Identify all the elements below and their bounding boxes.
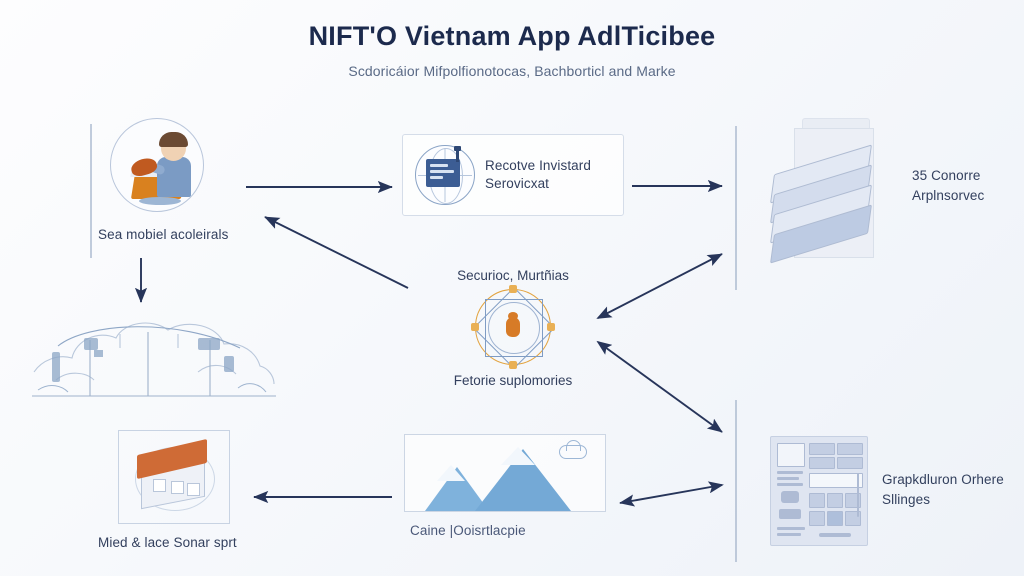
node-recotve-invistard-serovicxat[interactable]: Recotve Invistard Serovicxat: [402, 134, 624, 216]
node-label: Grapkdluron Orhere Sllinges: [882, 470, 1014, 509]
hub-label-bottom: Fetorie suplomories: [398, 373, 628, 388]
node-caine-ooisrtlacpie[interactable]: Caine |Ooisrtlacpie: [404, 434, 614, 540]
person-cooking-icon: [110, 118, 204, 212]
stacked-layers-icon: [760, 118, 900, 268]
mountains-icon: [404, 434, 606, 512]
dashboard-panel-icon: [770, 436, 868, 546]
globe-server-icon: [415, 145, 475, 205]
node-grapkdluron-orhere-sllinges[interactable]: Grapkdluron Orhere Sllinges: [770, 436, 1020, 546]
diagram-canvas: NIFT'O Vietnam App AdlTicibee Scdoricáio…: [0, 0, 1024, 576]
diagram-header: NIFT'O Vietnam App AdlTicibee Scdoricáio…: [0, 22, 1024, 79]
node-label: Caine |Ooisrtlacpie: [410, 522, 614, 540]
node-card: Recotve Invistard Serovicxat: [402, 134, 624, 216]
house-building-icon: [118, 430, 230, 524]
landscape-sketch-icon: [28, 300, 280, 408]
arrow-hub-to-cook: [265, 217, 408, 288]
node-sea-mobiel-acoleirals[interactable]: Sea mobiel acoleirals: [88, 118, 268, 244]
arrow-dashboard-mountains: [620, 485, 722, 503]
node-mied-lace-sonar-sprt[interactable]: Mied & lace Sonar sprt: [98, 430, 328, 552]
node-label: 35 Conorre Arplnsorvec: [912, 166, 1008, 205]
node-label: Mied & lace Sonar sprt: [98, 534, 328, 552]
page-subtitle: Scdoricáior Mifpolfionotocas, Bachbortic…: [0, 63, 1024, 79]
page-title: NIFT'O Vietnam App AdlTicibee: [0, 22, 1024, 52]
node-hub-fetorie-suplomories[interactable]: Securioc, Murtñias Fetorie suplomories: [398, 268, 628, 388]
atom-hub-icon: [475, 289, 551, 365]
hub-label-top: Securioc, Murtñias: [398, 268, 628, 283]
node-label: Sea mobiel acoleirals: [98, 226, 268, 244]
node-label: Recotve Invistard Serovicxat: [485, 157, 611, 192]
